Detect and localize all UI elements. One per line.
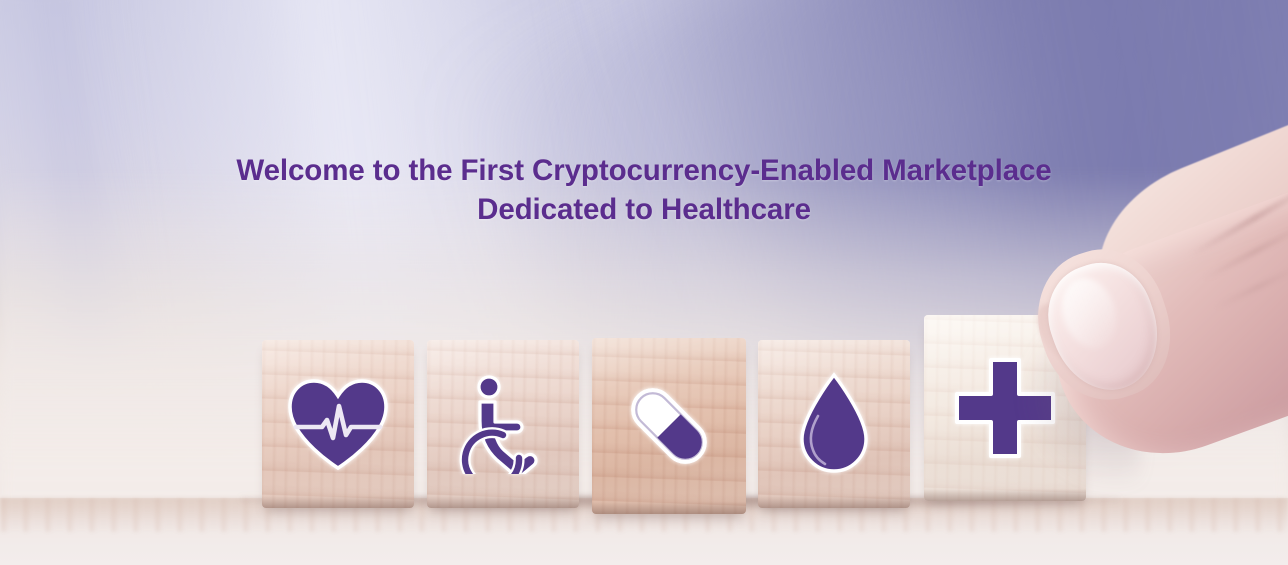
heart-pulse-icon (286, 378, 390, 470)
icon-container (758, 340, 910, 508)
page-title: Welcome to the First Cryptocurrency-Enab… (0, 152, 1288, 230)
blood-drop-icon (797, 372, 871, 476)
block-medical-cross[interactable] (924, 315, 1086, 501)
block-heart-pulse[interactable] (262, 340, 414, 508)
wooden-block-row (0, 0, 1288, 565)
icon-container (262, 340, 414, 508)
block-blood-drop[interactable] (758, 340, 910, 508)
wheelchair-accessibility-icon (457, 374, 549, 474)
block-pill[interactable] (592, 338, 746, 514)
icon-container (924, 315, 1086, 501)
pill-capsule-icon (621, 378, 717, 474)
block-wheelchair[interactable] (427, 340, 579, 508)
icon-container (592, 338, 746, 514)
hero-banner: Welcome to the First Cryptocurrency-Enab… (0, 0, 1288, 565)
medical-cross-icon (953, 356, 1057, 460)
icon-container (427, 340, 579, 508)
